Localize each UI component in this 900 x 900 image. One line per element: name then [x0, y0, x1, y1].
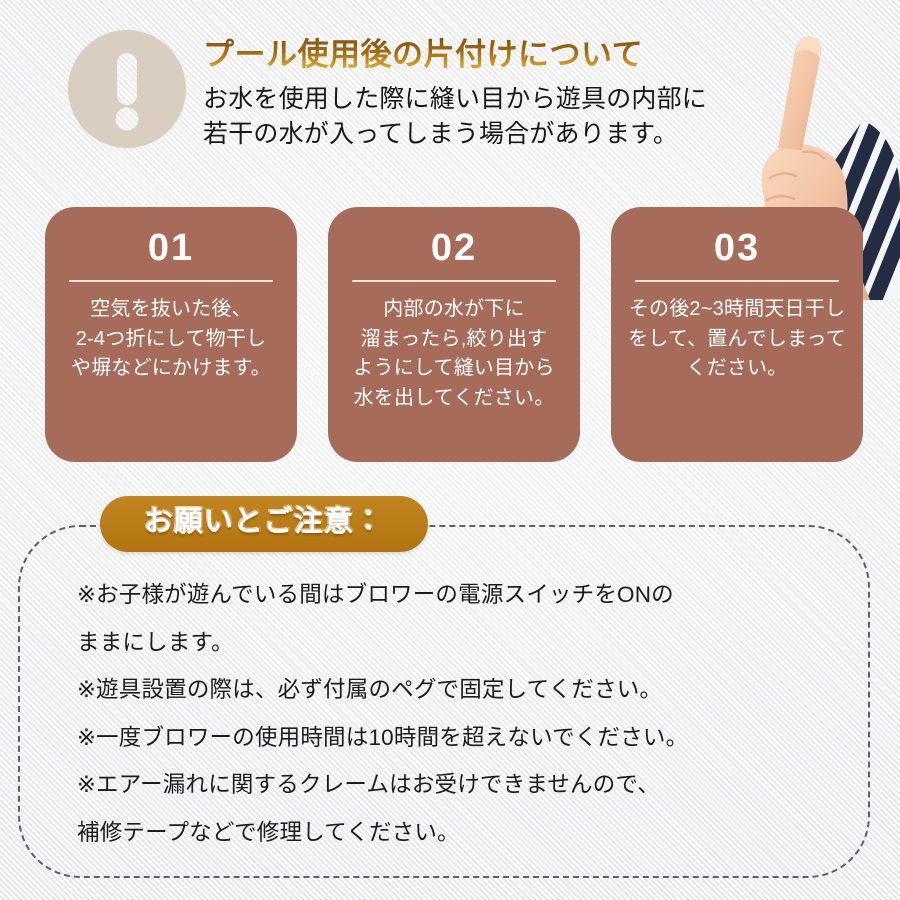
step-card-01[interactable]: 01 空気を抜いた後、 2-4つ折にして物干し や塀などにかけます。	[45, 207, 297, 462]
step-body: その後2~3時間天日干し をして、置んでしまって ください。	[623, 295, 851, 384]
step-body: 内部の水が下に 溜まったら,絞り出す ようにして縫い目から 水を出してください。	[340, 295, 568, 413]
step-number: 03	[623, 229, 851, 267]
notice-body: ※お子様が遊んでいる間はブロワーの電源スイッチをONの ままにします。 ※遊具設…	[77, 584, 838, 869]
step-body-line: 2-4つ折にして物干し	[57, 325, 285, 355]
step-divider	[69, 280, 273, 282]
header-text-block: プール使用後の片付けについて お水を使用した際に縫い目から遊具の内部に 若干の水…	[203, 36, 763, 153]
step-number: 02	[340, 229, 568, 267]
step-body: 空気を抜いた後、 2-4つ折にして物干し や塀などにかけます。	[57, 295, 285, 384]
step-body-line: 水を出してください。	[340, 384, 568, 414]
step-body-line: 空気を抜いた後、	[57, 295, 285, 325]
notice-line: ※エアー漏れに関するクレームはお受けできませんので、	[77, 774, 838, 797]
step-body-line: その後2~3時間天日干し	[623, 295, 851, 325]
step-body-line: をして、置んでしまって	[623, 325, 851, 355]
header-line-1: お水を使用した際に縫い目から遊具の内部に	[203, 82, 763, 118]
steps-row: 01 空気を抜いた後、 2-4つ折にして物干し や塀などにかけます。 02 内部…	[45, 207, 863, 462]
header-line-2: 若干の水が入ってしまう場合があります。	[203, 117, 763, 153]
header-section: プール使用後の片付けについて お水を使用した際に縫い目から遊具の内部に 若干の水…	[0, 0, 900, 195]
step-divider	[352, 280, 556, 282]
page-title: プール使用後の片付けについて	[203, 36, 763, 75]
notice-line: ※遊具設置の際は、必ず付属のペグで固定してください。	[77, 679, 838, 702]
step-body-line: 溜まったら,絞り出す	[340, 325, 568, 355]
notice-line: ※お子様が遊んでいる間はブロワーの電源スイッチをONの	[77, 584, 838, 607]
notice-line: 補修テープなどで修理してください。	[77, 822, 838, 845]
notice-line: ※一度ブロワーの使用時間は10時間を超えないでください。	[77, 727, 838, 750]
notice-title-badge: お願いとご注意：	[100, 496, 428, 552]
step-body-line: ください。	[623, 354, 851, 384]
notice-panel: お願いとご注意： ※お子様が遊んでいる間はブロワーの電源スイッチをONの ままに…	[18, 525, 870, 878]
step-body-line: や塀などにかけます。	[57, 354, 285, 384]
step-body-line: 内部の水が下に	[340, 295, 568, 325]
step-card-03[interactable]: 03 その後2~3時間天日干し をして、置んでしまって ください。	[611, 207, 863, 462]
step-card-02[interactable]: 02 内部の水が下に 溜まったら,絞り出す ようにして縫い目から 水を出してくだ…	[328, 207, 580, 462]
infographic-page: プール使用後の片付けについて お水を使用した際に縫い目から遊具の内部に 若干の水…	[0, 0, 900, 900]
step-divider	[635, 280, 839, 282]
step-body-line: ようにして縫い目から	[340, 354, 568, 384]
step-number: 01	[57, 229, 285, 267]
exclamation-mark-circle-icon	[68, 30, 186, 148]
notice-line: ままにします。	[77, 632, 838, 655]
